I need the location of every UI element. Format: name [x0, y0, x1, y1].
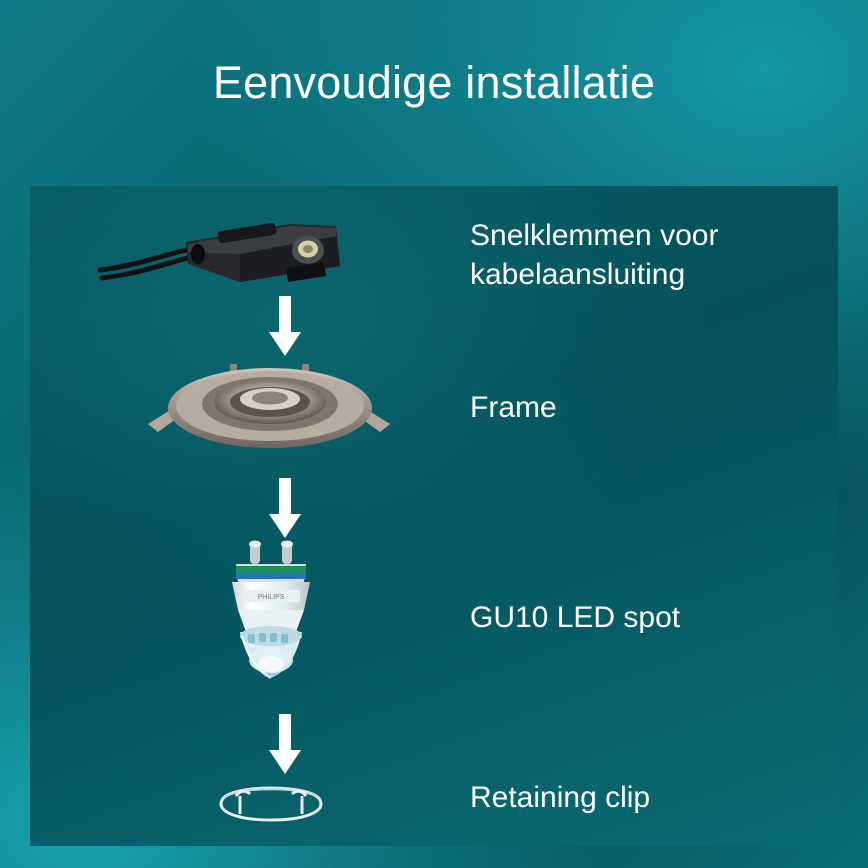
step-label-terminal-block: Snelklemmen voor kabelaansluiting [470, 216, 830, 294]
step-label-frame: Frame [470, 388, 830, 427]
arrow-shaft [279, 478, 291, 516]
terminal-block-icon [90, 192, 450, 312]
recessed-frame-icon [90, 346, 450, 466]
svg-text:PHILIPS: PHILIPS [258, 594, 285, 601]
diagram-panel: Snelklemmen voor kabelaansluiting [30, 186, 838, 846]
arrow-down-2 [262, 478, 308, 540]
step-label-gu10-led-spot: GU10 LED spot [470, 598, 830, 637]
step-row-frame: Frame [30, 346, 838, 466]
step-row-retaining-clip: Retaining clip [30, 756, 838, 846]
installation-diagram-poster: Eenvoudige installatie Sne [0, 0, 868, 868]
retaining-clip-icon [90, 756, 450, 846]
arrow-shaft [279, 296, 291, 334]
step-label-retaining-clip: Retaining clip [470, 778, 830, 817]
arrow-head [269, 514, 301, 538]
arrow-shaft [279, 714, 291, 752]
step-row-terminal-block: Snelklemmen voor kabelaansluiting [30, 192, 838, 312]
gu10-lamp-icon: PHILIPS [90, 536, 450, 706]
step-row-gu10-led-spot: PHILIPS GU10 LED spot [30, 536, 838, 706]
page-title: Eenvoudige installatie [0, 56, 868, 110]
